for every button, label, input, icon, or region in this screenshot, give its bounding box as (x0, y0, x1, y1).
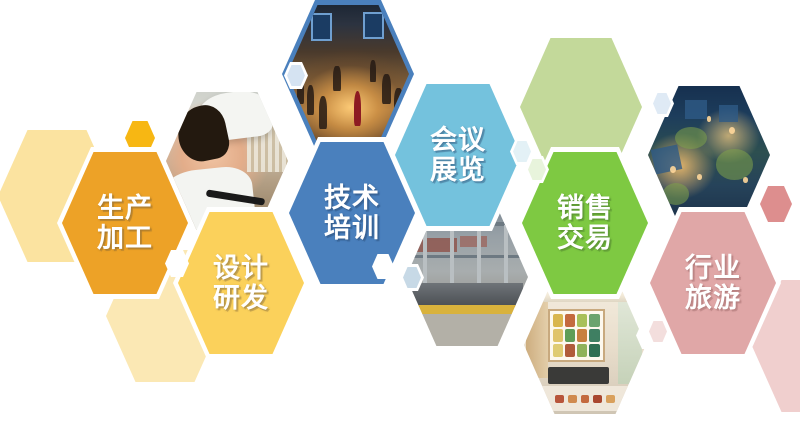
cell-design-label: 设计 研发 (213, 253, 269, 313)
showroom-floor-sample (593, 395, 602, 403)
showroom-tile (565, 344, 575, 357)
showroom-floor-sample (568, 395, 577, 403)
cell-training-label: 技术 培训 (324, 183, 380, 243)
showroom-floor-sample (606, 395, 615, 403)
showroom-tile (577, 329, 587, 342)
cell-sales-label: 销售 交易 (557, 193, 613, 253)
showroom-floor-sample (555, 395, 564, 403)
cell-production-label: 生产 加工 (97, 193, 153, 253)
cell-tourism-label: 行业 旅游 (685, 253, 741, 313)
showroom-tile (589, 329, 599, 342)
showroom-tile (577, 344, 587, 357)
showroom-tile (553, 329, 563, 342)
showroom-tile (589, 344, 599, 357)
showroom-tile (577, 314, 587, 327)
showroom-tile (589, 314, 599, 327)
showroom-tile (553, 314, 563, 327)
hexagon-infographic: 生产 加工 设计 研发 技术 培训 会议 展览 销售 交易 行业 旅游 (0, 0, 800, 424)
showroom-tile-grid (548, 309, 604, 361)
showroom-tile (553, 344, 563, 357)
decor-hex-mini-rose (760, 186, 792, 222)
showroom-tile (565, 329, 575, 342)
cell-exhibition-label: 会议 展览 (430, 125, 486, 185)
showroom-floor-sample (581, 395, 590, 403)
showroom-tile (565, 314, 575, 327)
